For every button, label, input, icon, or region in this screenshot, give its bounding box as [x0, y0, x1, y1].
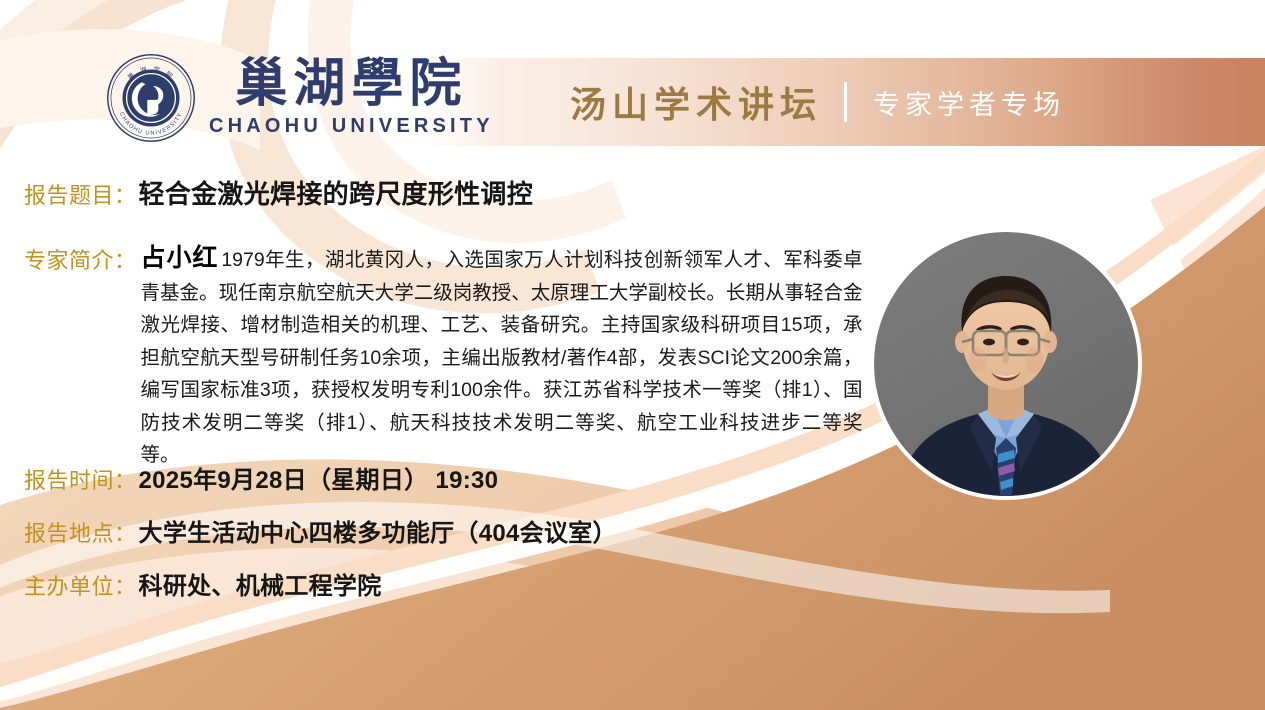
label-speaker-bio: 专家简介：: [24, 242, 137, 276]
poster-root: 1977 CHAOHU UNIVERSITY 巢 湖 学 院 巢湖學院 CHAO…: [0, 0, 1265, 710]
row-host-unit: 主办单位： 科研处、机械工程学院: [24, 571, 382, 602]
row-report-title: 报告题目： 轻合金激光焊接的跨尺度形性调控: [24, 178, 533, 212]
value-report-title: 轻合金激光焊接的跨尺度形性调控: [139, 178, 534, 212]
row-report-time: 报告时间： 2025年9月28日（星期日） 19:30: [24, 465, 498, 496]
speaker-portrait-image: [874, 232, 1138, 496]
value-host-unit: 科研处、机械工程学院: [139, 571, 382, 602]
value-report-place: 大学生活动中心四楼多功能厅（404会议室）: [139, 518, 617, 549]
speaker-bio-text: 占小红1979年生，湖北黄冈人，入选国家万人计划科技创新领军人才、军科委卓青基金…: [141, 242, 863, 472]
label-host-unit: 主办单位：: [24, 572, 137, 602]
speaker-bio-body: 1979年生，湖北黄冈人，入选国家万人计划科技创新领军人才、军科委卓青基金。现任…: [141, 249, 863, 466]
label-report-place: 报告地点：: [24, 519, 137, 549]
label-report-time: 报告时间：: [24, 466, 137, 496]
speaker-portrait: [874, 232, 1138, 496]
value-report-time: 2025年9月28日（星期日） 19:30: [139, 465, 499, 496]
label-report-title: 报告题目：: [24, 181, 137, 211]
row-report-place: 报告地点： 大学生活动中心四楼多功能厅（404会议室）: [24, 518, 617, 549]
speaker-name: 占小红: [141, 244, 219, 272]
row-speaker-bio: 专家简介： 占小红1979年生，湖北黄冈人，入选国家万人计划科技创新领军人才、军…: [24, 242, 884, 472]
